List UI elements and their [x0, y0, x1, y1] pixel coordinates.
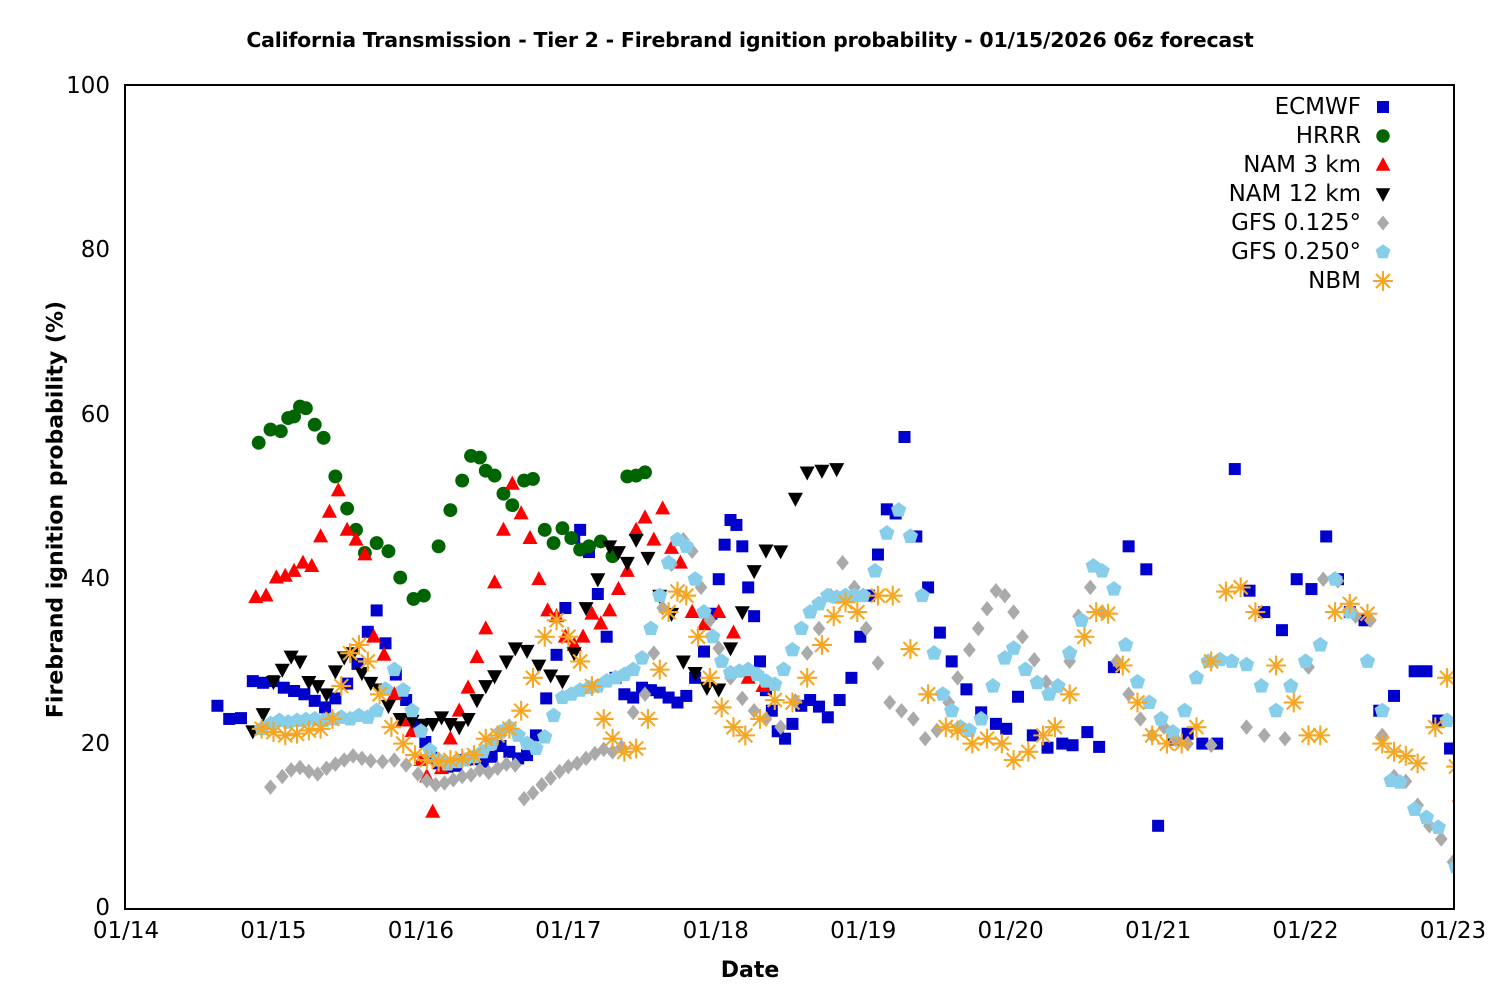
x-tick-label: 01/21	[1098, 918, 1218, 944]
data-point	[1452, 791, 1453, 811]
data-point	[1062, 645, 1077, 660]
data-point	[464, 745, 484, 765]
data-point	[1189, 670, 1204, 685]
data-point	[629, 522, 644, 536]
data-point	[812, 635, 832, 655]
data-point	[962, 734, 982, 754]
square-marker-icon	[1361, 92, 1405, 121]
data-point	[1177, 703, 1192, 718]
data-point	[1084, 580, 1097, 596]
data-point	[786, 718, 798, 730]
triangle-up-marker-icon	[1361, 150, 1405, 179]
data-point	[1153, 711, 1168, 726]
data-point	[934, 627, 946, 639]
data-point	[1268, 703, 1283, 718]
series-ecmwf	[211, 431, 1453, 832]
data-point	[602, 602, 617, 616]
data-point	[1409, 665, 1421, 677]
data-point	[646, 532, 661, 546]
data-point	[1000, 723, 1012, 735]
x-axis-label: Date	[0, 958, 1500, 983]
data-point	[730, 519, 742, 531]
data-point	[985, 678, 1000, 693]
data-point	[313, 528, 328, 542]
data-point	[1098, 604, 1118, 624]
data-point	[1067, 739, 1079, 751]
data-point	[309, 695, 321, 707]
data-point	[278, 682, 290, 694]
data-point	[1279, 731, 1292, 747]
data-point	[918, 684, 938, 704]
data-point	[1142, 725, 1162, 745]
data-point	[750, 709, 770, 729]
data-point	[555, 675, 570, 689]
data-point	[926, 645, 941, 660]
data-point	[369, 703, 384, 718]
data-point	[814, 465, 829, 479]
data-point	[323, 709, 343, 729]
data-point	[511, 701, 531, 721]
data-point	[526, 472, 540, 486]
data-point	[813, 701, 825, 713]
data-point	[1313, 637, 1328, 652]
x-tick-label: 01/15	[213, 918, 333, 944]
data-point	[417, 589, 431, 603]
data-point	[559, 602, 571, 614]
data-point	[478, 680, 493, 694]
data-point	[376, 754, 389, 770]
x-tick-label: 01/22	[1246, 918, 1366, 944]
legend-label: HRRR	[1296, 123, 1361, 149]
data-point	[1283, 678, 1298, 693]
data-point	[1298, 653, 1313, 668]
data-point	[319, 701, 331, 713]
data-point	[1231, 578, 1251, 598]
data-point	[960, 683, 972, 695]
data-point	[1246, 602, 1266, 622]
data-point	[381, 700, 396, 714]
data-point	[538, 523, 552, 537]
data-point	[558, 627, 578, 647]
data-point	[582, 676, 602, 696]
y-tick-label: 80	[0, 237, 110, 263]
data-point	[311, 719, 331, 739]
data-point	[1266, 656, 1286, 676]
data-point	[356, 751, 369, 767]
data-point	[650, 660, 670, 680]
data-point	[661, 555, 676, 570]
data-point	[508, 642, 523, 656]
data-point	[783, 693, 803, 713]
data-point	[1172, 734, 1192, 754]
data-point	[834, 694, 846, 706]
data-point	[972, 621, 985, 637]
data-point	[824, 606, 844, 626]
data-point	[1140, 563, 1152, 575]
data-point	[946, 655, 958, 667]
data-point	[547, 610, 567, 630]
data-point	[1152, 820, 1164, 832]
x-tick-label: 01/23	[1393, 918, 1500, 944]
data-point	[1446, 757, 1453, 777]
data-point	[726, 624, 741, 638]
data-point	[1372, 734, 1392, 754]
data-point	[822, 711, 834, 723]
data-point	[522, 530, 537, 544]
data-point	[499, 656, 514, 670]
data-point	[235, 712, 247, 724]
data-point	[308, 418, 322, 432]
data-point	[211, 700, 223, 712]
data-point	[247, 675, 259, 687]
data-point	[1419, 810, 1434, 825]
legend-item-hrrr[interactable]: HRRR	[1150, 121, 1405, 150]
data-point	[1018, 662, 1033, 677]
data-point	[443, 503, 457, 517]
data-point	[758, 545, 773, 559]
data-point	[1187, 717, 1207, 737]
data-point	[800, 466, 815, 480]
data-point	[298, 688, 310, 700]
data-point	[629, 534, 644, 548]
data-point	[259, 587, 274, 601]
data-point	[696, 604, 711, 619]
data-point	[773, 545, 788, 559]
legend-label: NAM 3 km	[1243, 152, 1361, 178]
data-point	[432, 539, 446, 553]
data-point	[592, 588, 604, 600]
data-point	[1358, 604, 1378, 624]
data-point	[1130, 674, 1145, 689]
x-tick-label: 01/19	[803, 918, 923, 944]
data-point	[292, 656, 307, 670]
data-point	[1276, 624, 1288, 636]
data-point	[659, 602, 679, 622]
data-point	[1012, 691, 1024, 703]
data-point	[883, 586, 903, 606]
data-point	[1081, 726, 1093, 738]
data-point	[1016, 629, 1029, 645]
data-point	[499, 719, 519, 739]
data-point	[1340, 594, 1360, 614]
data-point	[601, 631, 613, 643]
data-point	[719, 539, 731, 551]
data-point	[620, 557, 635, 571]
diamond-marker-icon	[1361, 208, 1405, 237]
legend-item-gfs-0-250[interactable]: GFS 0.250°	[1150, 237, 1405, 266]
data-point	[1093, 741, 1105, 753]
data-point	[712, 698, 732, 718]
legend-item-ecmwf[interactable]: ECMWF	[1150, 92, 1405, 121]
data-point	[711, 683, 726, 697]
data-point	[393, 571, 407, 585]
legend-label: NAM 12 km	[1229, 181, 1361, 207]
y-tick-label: 60	[0, 402, 110, 428]
data-point	[331, 482, 346, 496]
data-point	[611, 581, 626, 595]
legend-item-nbm[interactable]: NBM	[1150, 266, 1405, 295]
data-point	[687, 571, 702, 586]
data-point	[735, 606, 750, 620]
chart-page: California Transmission - Tier 2 - Fireb…	[0, 0, 1500, 1000]
data-point	[594, 709, 614, 729]
data-point	[872, 549, 884, 561]
data-point	[1201, 652, 1221, 672]
data-point	[638, 465, 652, 479]
data-point	[1056, 738, 1068, 750]
x-tick-label: 01/16	[361, 918, 481, 944]
data-point	[478, 620, 493, 634]
data-point	[328, 470, 342, 484]
chart-legend: ECMWFHRRRNAM 3 kmNAM 12 kmGFS 0.125°GFS …	[1150, 92, 1405, 295]
data-point	[425, 804, 440, 818]
data-point	[776, 662, 791, 677]
data-point	[1239, 657, 1254, 672]
data-point	[1030, 675, 1045, 690]
data-point	[713, 573, 725, 585]
data-point	[1425, 717, 1445, 737]
data-point	[627, 705, 640, 721]
y-tick-label: 100	[0, 73, 110, 99]
data-point	[879, 525, 894, 540]
x-tick-label: 01/18	[656, 918, 776, 944]
data-point	[535, 627, 555, 647]
data-point	[907, 711, 920, 727]
data-point	[643, 620, 658, 635]
data-point	[901, 639, 921, 659]
data-point	[1408, 753, 1428, 773]
data-point	[1060, 684, 1080, 704]
legend-item-nam-12-km[interactable]: NAM 12 km	[1150, 179, 1405, 208]
data-point	[992, 734, 1012, 754]
data-point	[736, 691, 749, 707]
data-point	[1018, 742, 1038, 762]
data-point	[576, 629, 591, 643]
data-point	[455, 474, 469, 488]
data-point	[647, 645, 660, 661]
data-point	[564, 531, 578, 545]
data-point	[469, 694, 484, 708]
data-point	[469, 649, 484, 663]
data-point	[1437, 668, 1453, 688]
data-point	[794, 620, 809, 635]
data-point	[951, 670, 964, 686]
data-point	[487, 574, 502, 588]
data-point	[1118, 637, 1133, 652]
data-point	[1113, 656, 1133, 676]
data-point	[867, 563, 882, 578]
data-point	[505, 498, 519, 512]
data-point	[919, 731, 932, 747]
data-point	[520, 645, 535, 659]
data-point	[735, 725, 755, 745]
legend-label: ECMWF	[1275, 94, 1361, 120]
data-point	[370, 684, 390, 704]
pentagon-marker-icon	[1361, 237, 1405, 266]
data-point	[723, 642, 738, 656]
data-point	[274, 424, 288, 438]
data-point	[299, 401, 313, 415]
data-point	[1074, 627, 1094, 647]
series-gfs-0-250	[254, 502, 1453, 873]
data-point	[801, 645, 814, 661]
data-point	[948, 721, 968, 741]
data-point	[329, 692, 341, 704]
data-point	[813, 621, 826, 637]
data-point	[546, 708, 561, 723]
data-point	[1284, 693, 1304, 713]
data-point	[358, 652, 378, 672]
data-point	[1224, 653, 1239, 668]
data-point	[990, 718, 1002, 730]
data-point	[836, 592, 856, 612]
data-point	[1258, 728, 1271, 744]
data-point	[540, 692, 552, 704]
data-point	[396, 682, 411, 697]
data-point	[1254, 678, 1269, 693]
data-point	[1050, 678, 1065, 693]
data-point	[747, 565, 762, 579]
data-point	[637, 509, 652, 523]
data-point	[698, 646, 710, 658]
y-tick-label: 20	[0, 731, 110, 757]
data-point	[1431, 819, 1446, 834]
data-point	[370, 536, 384, 550]
data-point	[288, 685, 300, 697]
data-point	[899, 431, 911, 443]
data-point	[688, 627, 708, 647]
x-tick-label: 01/14	[66, 918, 186, 944]
data-point	[349, 635, 369, 655]
data-point	[736, 540, 748, 552]
data-point	[1444, 743, 1453, 755]
data-point	[640, 552, 655, 566]
data-point	[547, 536, 561, 550]
data-point	[1360, 653, 1375, 668]
legend-item-nam-3-km[interactable]: NAM 3 km	[1150, 150, 1405, 179]
data-point	[317, 431, 331, 445]
data-point	[1123, 540, 1135, 552]
data-point	[785, 642, 800, 657]
data-point	[1004, 750, 1024, 770]
data-point	[382, 717, 402, 737]
data-point	[1320, 530, 1332, 542]
data-point	[1305, 583, 1317, 595]
data-point	[655, 500, 670, 514]
data-point	[638, 709, 658, 729]
data-point	[680, 690, 692, 702]
data-point	[1216, 582, 1236, 602]
data-point	[473, 451, 487, 465]
data-point	[1122, 687, 1135, 703]
data-point	[626, 739, 646, 759]
legend-label: GFS 0.250°	[1231, 239, 1361, 265]
data-point	[340, 502, 354, 516]
data-point	[1388, 690, 1400, 702]
data-point	[797, 668, 817, 688]
data-point	[891, 502, 906, 517]
asterisk-marker-icon	[1361, 266, 1405, 295]
data-point	[371, 604, 383, 616]
data-point	[1229, 463, 1241, 475]
data-point	[380, 637, 392, 649]
triangle-down-marker-icon	[1361, 179, 1405, 208]
data-point	[748, 610, 760, 622]
data-point	[496, 522, 511, 536]
data-point	[488, 469, 502, 483]
data-point	[1106, 581, 1121, 596]
data-point	[765, 690, 785, 710]
data-point	[1240, 719, 1253, 735]
data-point	[382, 544, 396, 558]
legend-item-gfs-0-125[interactable]: GFS 0.125°	[1150, 208, 1405, 237]
data-point	[977, 729, 997, 749]
data-point	[724, 717, 744, 737]
data-point	[443, 730, 458, 744]
chart-title: California Transmission - Tier 2 - Fireb…	[0, 28, 1500, 52]
legend-label: NBM	[1308, 268, 1361, 294]
data-point	[742, 581, 754, 593]
data-point	[1420, 665, 1432, 677]
data-point	[1291, 573, 1303, 585]
data-point	[1128, 693, 1148, 713]
data-point	[1134, 711, 1147, 727]
data-point	[1310, 725, 1330, 745]
data-point	[461, 680, 476, 694]
data-point	[1033, 725, 1053, 745]
data-point	[634, 650, 649, 665]
data-point	[788, 493, 803, 507]
x-tick-label: 01/20	[951, 918, 1071, 944]
data-point	[531, 571, 546, 585]
data-point	[981, 601, 994, 617]
data-point	[1325, 602, 1345, 622]
data-point	[523, 668, 543, 688]
data-point	[540, 602, 555, 616]
data-point	[387, 662, 402, 677]
data-point	[845, 672, 857, 684]
series-nbm	[252, 578, 1453, 812]
data-point	[1007, 604, 1020, 620]
data-point	[836, 555, 849, 571]
data-point	[452, 721, 467, 735]
data-point	[590, 573, 605, 587]
data-point	[331, 676, 351, 696]
data-point	[872, 655, 885, 671]
data-point	[264, 779, 277, 795]
legend-label: GFS 0.125°	[1231, 210, 1361, 236]
data-point	[714, 653, 729, 668]
data-point	[895, 703, 908, 719]
data-point	[676, 586, 696, 606]
data-point	[322, 504, 337, 518]
data-point	[1045, 717, 1065, 737]
data-point	[551, 649, 563, 661]
data-point	[829, 463, 844, 477]
data-point	[570, 652, 590, 672]
y-tick-label: 40	[0, 566, 110, 592]
data-point	[754, 655, 766, 667]
data-point	[700, 668, 720, 688]
data-point	[1006, 640, 1021, 655]
data-point	[883, 695, 896, 711]
data-point	[388, 752, 401, 768]
data-point	[364, 753, 377, 769]
data-point	[1317, 571, 1330, 587]
x-tick-label: 01/17	[508, 918, 628, 944]
data-point	[223, 713, 235, 725]
data-point	[252, 436, 266, 450]
